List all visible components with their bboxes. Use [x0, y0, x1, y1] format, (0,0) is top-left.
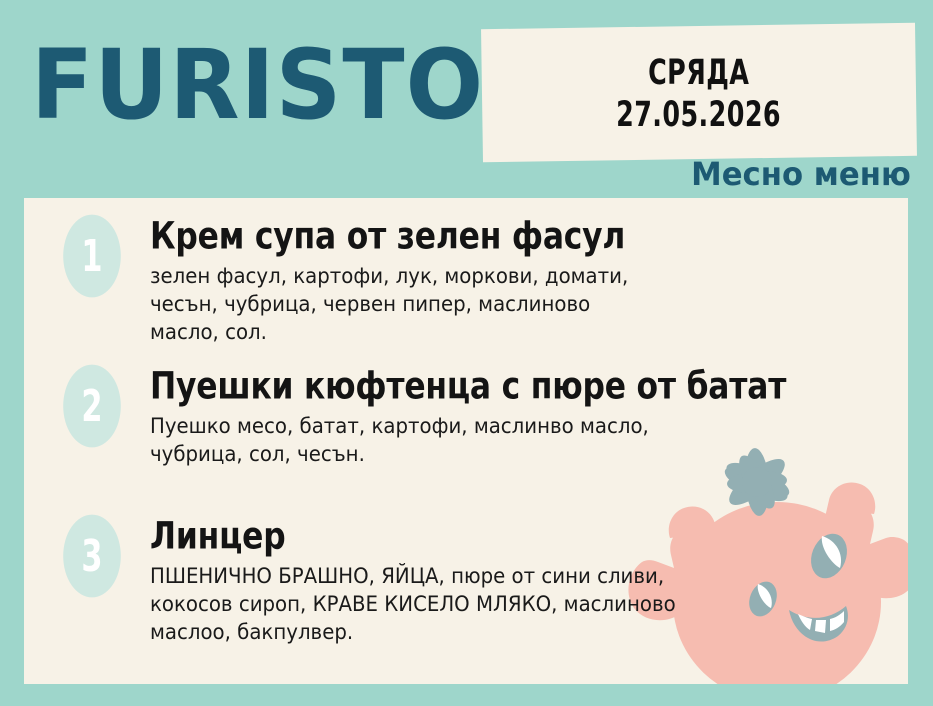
date-card-inner: СРЯДА 27.05.2026: [482, 26, 916, 159]
menu-item-description-line: ПШЕНИЧНО БРАШНО, ЯЙЦА, пюре от сини слив…: [150, 562, 752, 590]
menu-item-title: Крем супа от зелен фасул: [150, 214, 870, 259]
menu-item-description-line: маслоо, бакпулвер.: [150, 618, 752, 646]
menu-item-description-line: Пуешко месо, батат, картофи, маслинво ма…: [150, 412, 752, 440]
menu-poster: FURISTO СРЯДА 27.05.2026 Месно меню: [0, 0, 933, 706]
menu-item-title: Пуешки кюфтенца с пюре от батат: [150, 364, 870, 409]
menu-item-description: Пуешко месо, батат, картофи, маслинво ма…: [150, 412, 752, 468]
menu-item-description-line: кокосов сироп, КРАВЕ КИСЕЛО МЛЯКО, масли…: [150, 590, 752, 618]
menu-item-body: Крем супа от зелен фасул зелен фасул, ка…: [150, 214, 908, 346]
menu-item-description-line: чубрица, сол, чесън.: [150, 440, 752, 468]
menu-item: 1 Крем супа от зелен фасул зелен фасул, …: [24, 214, 908, 346]
date-label: 27.05.2026: [617, 91, 782, 138]
poster-header: FURISTO СРЯДА 27.05.2026 Месно меню: [0, 0, 933, 198]
menu-list: 1 Крем супа от зелен фасул зелен фасул, …: [24, 198, 908, 684]
menu-item-body: Пуешки кюфтенца с пюре от батат Пуешко м…: [150, 364, 908, 468]
menu-item-description: ПШЕНИЧНО БРАШНО, ЯЙЦА, пюре от сини слив…: [150, 562, 752, 646]
menu-item: 3 Линцер ПШЕНИЧНО БРАШНО, ЯЙЦА, пюре от …: [24, 514, 908, 646]
menu-panel: 1 Крем супа от зелен фасул зелен фасул, …: [24, 198, 908, 684]
weekday-label: СРЯДА: [648, 49, 749, 96]
menu-item: 2 Пуешки кюфтенца с пюре от батат Пуешко…: [24, 364, 908, 468]
menu-kind-label: Месно меню: [691, 155, 911, 193]
menu-item-body: Линцер ПШЕНИЧНО БРАШНО, ЯЙЦА, пюре от си…: [150, 514, 908, 646]
menu-item-number-badge: 3: [63, 515, 121, 598]
date-card: СРЯДА 27.05.2026: [481, 23, 917, 162]
menu-item-number-badge: 1: [63, 215, 121, 298]
menu-item-description-line: масло, сол.: [150, 318, 752, 346]
brand-logo: FURISTO: [31, 32, 484, 140]
menu-item-description: зелен фасул, картофи, лук, моркови, дома…: [150, 262, 752, 346]
menu-item-title: Линцер: [150, 514, 870, 559]
menu-item-description-line: зелен фасул, картофи, лук, моркови, дома…: [150, 262, 752, 290]
menu-item-description-line: чесън, чубрица, червен пипер, маслиново: [150, 290, 752, 318]
menu-item-number-badge: 2: [63, 365, 121, 448]
